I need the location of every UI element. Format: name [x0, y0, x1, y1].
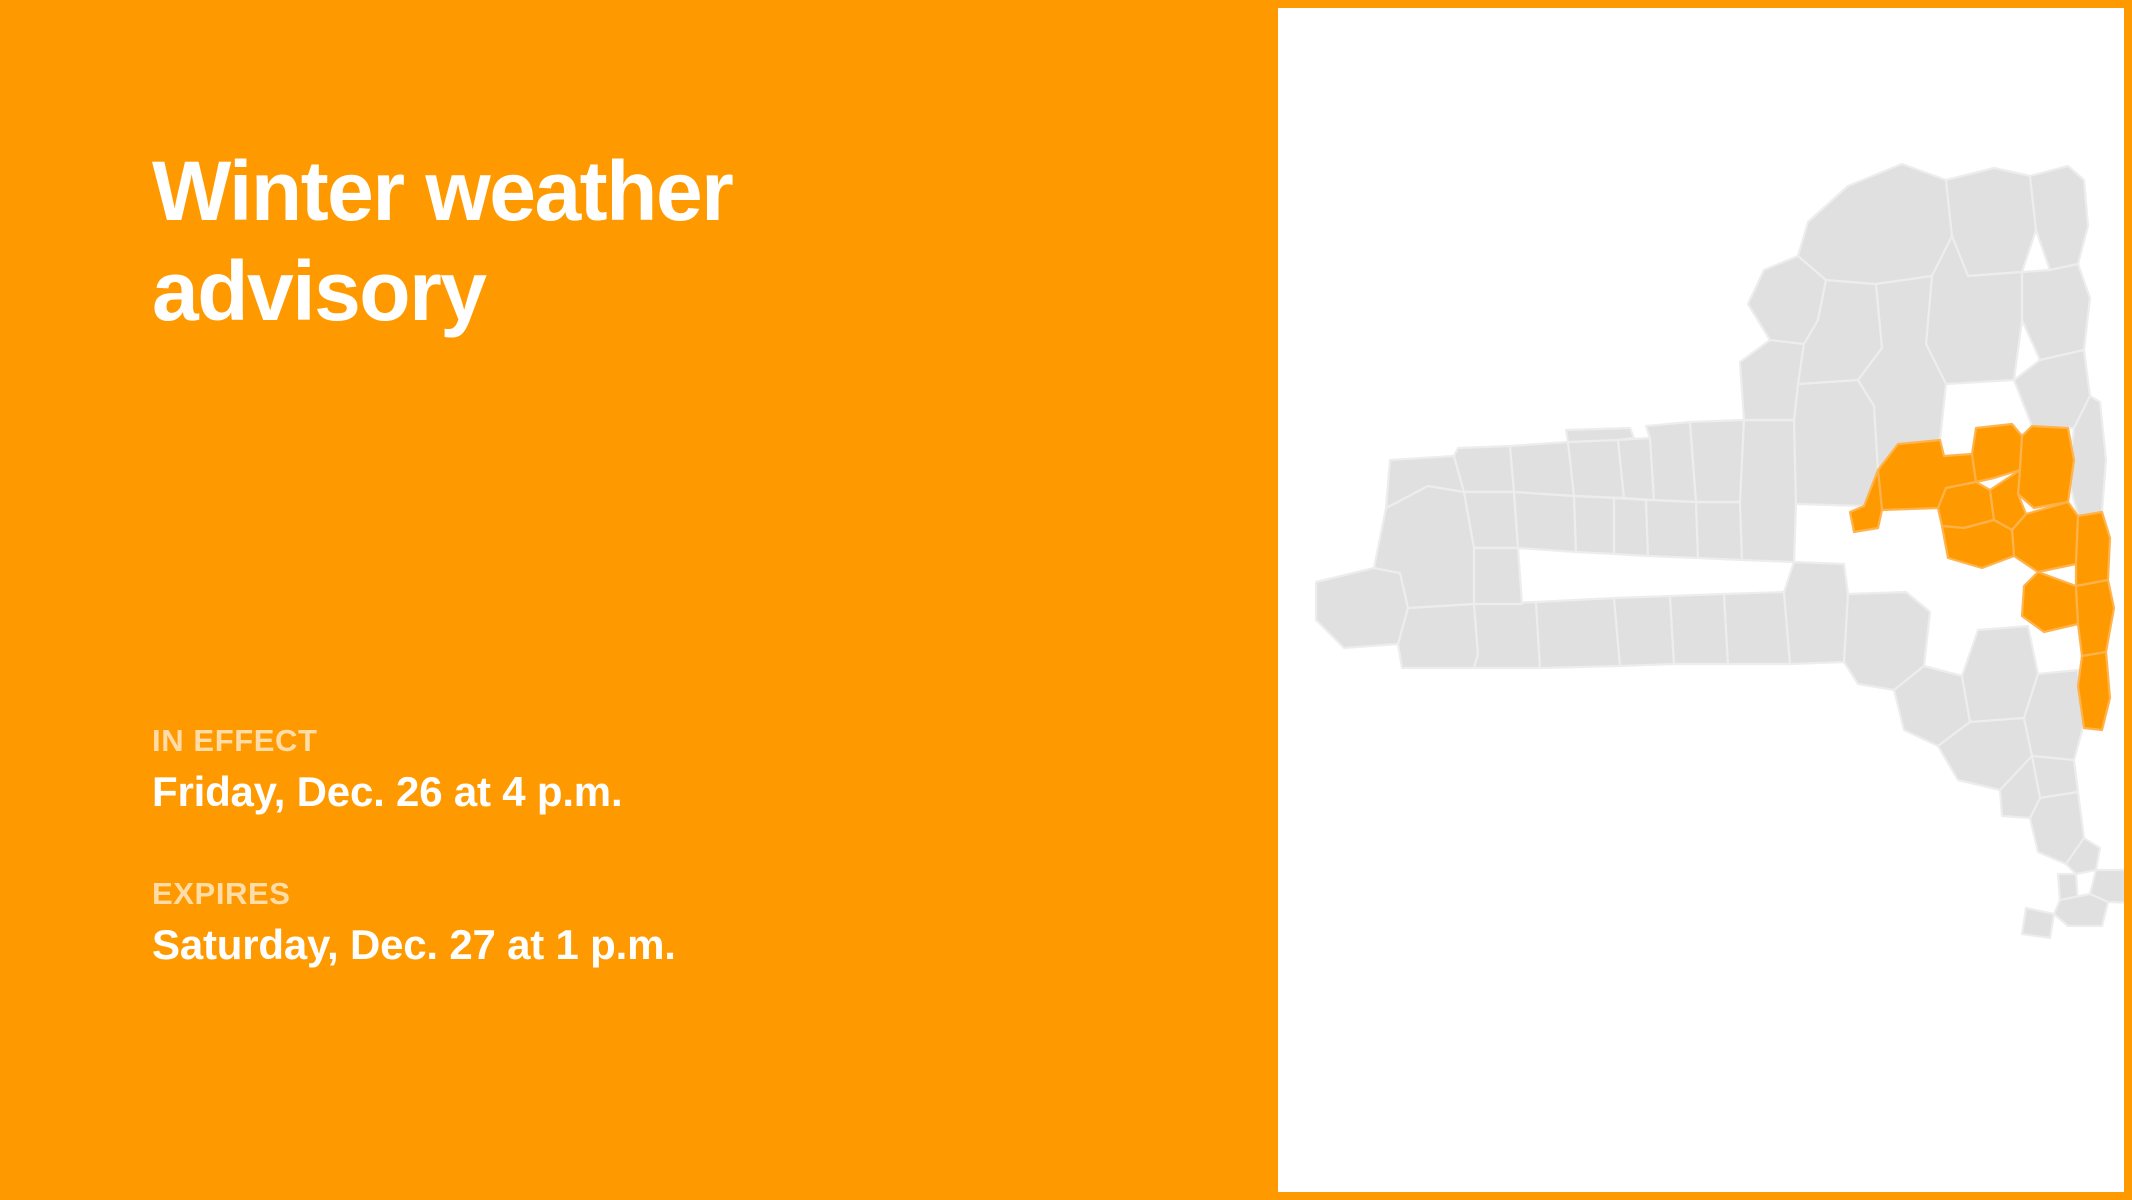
- in-effect-group: IN EFFECT Friday, Dec. 26 at 4 p.m.: [152, 722, 1152, 817]
- highlight-county-columbia: [2076, 580, 2114, 656]
- county-chemung: [1614, 596, 1674, 666]
- county-onondaga: [1690, 420, 1744, 502]
- county-yates: [1574, 496, 1614, 554]
- county-tioga: [1670, 594, 1728, 664]
- county-orleans: [1454, 446, 1514, 492]
- county-essex: [2022, 264, 2090, 360]
- county-chautauqua: [1316, 568, 1408, 648]
- county-chenango: [1784, 562, 1848, 664]
- alert-timing-block: IN EFFECT Friday, Dec. 26 at 4 p.m. EXPI…: [152, 722, 1152, 970]
- county-livingston: [1514, 492, 1576, 552]
- new-york-state-county-map: [1278, 8, 2124, 1192]
- county-allegany: [1474, 602, 1540, 668]
- county-broome: [1724, 592, 1790, 664]
- county-clinton: [2030, 166, 2088, 270]
- expires-label: EXPIRES: [152, 875, 1152, 914]
- county-stlawrence: [1798, 164, 1952, 284]
- highlight-county-saratoga: [2018, 426, 2074, 508]
- map-panel: [1278, 0, 2132, 1200]
- county-oswego: [1740, 340, 1804, 420]
- map-surface: [1278, 8, 2124, 1192]
- alert-panel: Winter weather advisory IN EFFECT Friday…: [0, 0, 1278, 1200]
- county-warren: [2014, 350, 2090, 428]
- county-cattaraugus: [1398, 604, 1478, 668]
- county-ontario: [1568, 440, 1624, 498]
- highlight-county-hudson-strip: [2078, 652, 2110, 730]
- county-monroe: [1510, 442, 1574, 496]
- county-seneca: [1618, 438, 1654, 500]
- highlight-county-montgomery: [1938, 482, 1994, 528]
- county-wyoming: [1474, 548, 1522, 604]
- in-effect-value: Friday, Dec. 26 at 4 p.m.: [152, 767, 1152, 817]
- county-genesee: [1464, 492, 1518, 548]
- expires-value: Saturday, Dec. 27 at 1 p.m.: [152, 920, 1152, 970]
- county-cayuga: [1646, 422, 1696, 502]
- county-oneida: [1794, 380, 1878, 506]
- county-madison: [1740, 420, 1796, 562]
- county-richmond: [2022, 908, 2054, 938]
- county-kings: [2054, 894, 2108, 926]
- highlight-county-rensselaer: [2076, 512, 2110, 586]
- alert-title: Winter weather advisory: [152, 142, 1112, 342]
- expires-group: EXPIRES Saturday, Dec. 27 at 1 p.m.: [152, 875, 1152, 970]
- weather-alert-graphic: Winter weather advisory IN EFFECT Friday…: [0, 0, 2132, 1200]
- county-schuyler: [1614, 498, 1648, 556]
- in-effect-label: IN EFFECT: [152, 722, 1152, 761]
- highlight-county-greene: [2022, 572, 2078, 632]
- highlight-county-schoharie: [1942, 520, 2014, 568]
- county-steuben: [1536, 598, 1620, 668]
- county-tompkins: [1646, 500, 1698, 558]
- county-cortland: [1696, 502, 1742, 560]
